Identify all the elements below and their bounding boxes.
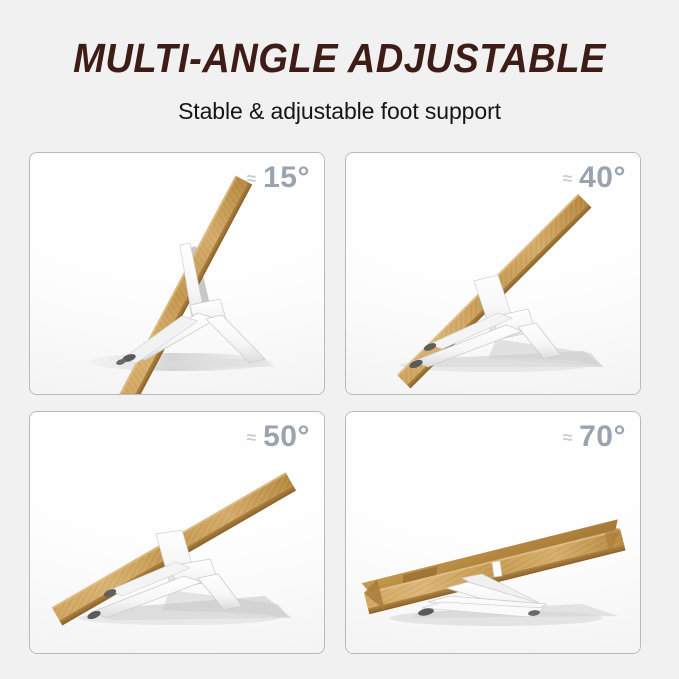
- angle-value: 40°: [579, 163, 626, 193]
- approx-sign-icon: ≈: [247, 170, 256, 187]
- product-photo-70: ≈ 70°: [346, 412, 640, 653]
- angle-badge-15: ≈ 15°: [247, 163, 310, 193]
- angle-panel-50: ≈ 50°: [29, 411, 325, 654]
- angle-badge-70: ≈ 70°: [563, 422, 626, 452]
- angle-panel-40: ≈ 40°: [345, 152, 641, 395]
- angle-panel-70: ≈ 70°: [345, 411, 641, 654]
- product-feature-image: MULTI-ANGLE ADJUSTABLE Stable & adjustab…: [0, 0, 679, 679]
- angle-badge-40: ≈ 40°: [563, 163, 626, 193]
- angle-value: 15°: [263, 163, 310, 193]
- product-photo-40: ≈ 40°: [346, 153, 640, 394]
- panel-grid: ≈ 15°: [29, 152, 651, 654]
- angle-value: 70°: [579, 422, 626, 452]
- angle-panel-15: ≈ 15°: [29, 152, 325, 395]
- product-photo-50: ≈ 50°: [30, 412, 324, 653]
- approx-sign-icon: ≈: [247, 429, 256, 446]
- page-title: MULTI-ANGLE ADJUSTABLE: [24, 36, 655, 80]
- product-photo-15: ≈ 15°: [30, 153, 324, 394]
- approx-sign-icon: ≈: [563, 429, 572, 446]
- approx-sign-icon: ≈: [563, 170, 572, 187]
- header: MULTI-ANGLE ADJUSTABLE Stable & adjustab…: [0, 0, 679, 142]
- page-subtitle: Stable & adjustable foot support: [0, 96, 679, 126]
- angle-badge-50: ≈ 50°: [247, 422, 310, 452]
- angle-value: 50°: [263, 422, 310, 452]
